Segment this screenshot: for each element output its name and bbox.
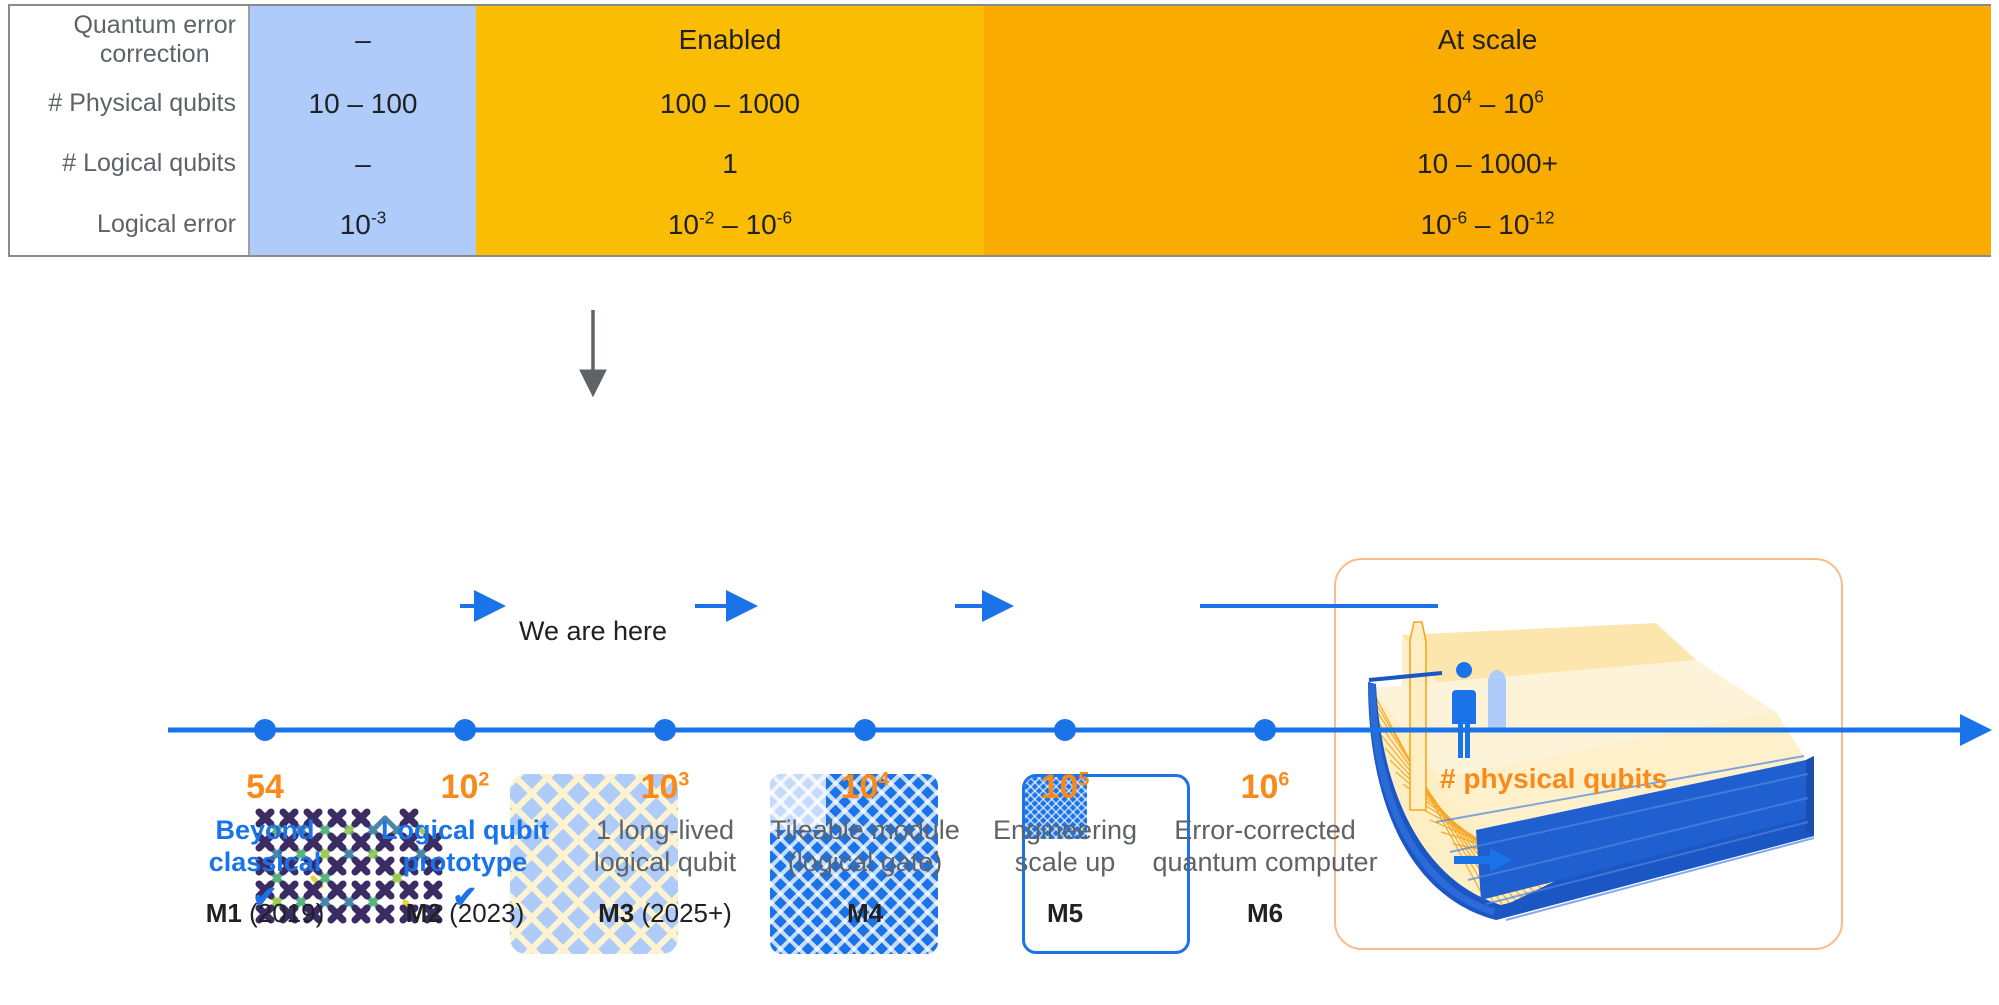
milestone-year-m3: (2025+)	[642, 898, 732, 928]
milestone-footer-m6: M6	[1145, 898, 1385, 929]
milestone-id-m1: M1	[206, 898, 242, 928]
axis-arrow-head	[1960, 714, 1992, 746]
axis-tick-dots	[254, 719, 1276, 741]
axis-label-physical-qubits: # physical qubits	[1440, 763, 1667, 795]
milestone-id-m2: M2	[406, 898, 442, 928]
milestone-id-m3: M3	[598, 898, 634, 928]
table-cell-err-nisq: 10-3	[250, 194, 476, 255]
table-row-label: Quantum errorcorrection	[10, 6, 250, 74]
table-row-label: Logical error	[10, 194, 250, 255]
table-cell-qec-nisq: –	[250, 6, 476, 74]
milestone-id-m5: M5	[1047, 898, 1083, 928]
milestone-year-m2: (2023)	[449, 898, 524, 928]
milestone-column-m6[interactable]: 106 Error-corrected quantum computer	[1145, 768, 1385, 879]
table-cell-phys-atscale: 104 – 106	[984, 74, 1991, 134]
roadmap-table: Quantum errorcorrection – Enabled At sca…	[8, 4, 1991, 257]
table-cell-log-nisq: –	[250, 134, 476, 194]
milestone-year-m1: (2019)	[249, 898, 324, 928]
milestone-qubits-m6: 106	[1145, 768, 1385, 807]
table-cell-log-enabled: 1	[476, 134, 984, 194]
we-are-here-label: We are here	[498, 616, 688, 647]
table-cell-err-enabled: 10-2 – 10-6	[476, 194, 984, 255]
table-cell-phys-enabled: 100 – 1000	[476, 74, 984, 134]
table-cell-phys-nisq: 10 – 100	[250, 74, 476, 134]
table-cell-log-atscale: 10 – 1000+	[984, 134, 1991, 194]
cryostat-icon	[1336, 560, 1841, 948]
table-cell-err-atscale: 10-6 – 10-12	[984, 194, 1991, 255]
milestone-id-m6: M6	[1247, 898, 1283, 928]
label-text-qec: Quantum errorcorrection	[73, 11, 236, 70]
table-cell-qec-enabled: Enabled	[476, 6, 984, 74]
table-row-label: # Physical qubits	[10, 74, 250, 134]
table-cell-qec-atscale: At scale	[984, 6, 1991, 74]
milestone-title-m6: Error-corrected quantum computer	[1145, 815, 1385, 879]
milestone-id-m4: M4	[847, 898, 883, 928]
roadmap-diagram: We are here	[0, 258, 1999, 1005]
table-row-label: # Logical qubits	[10, 134, 250, 194]
cryostat-illustration-card	[1334, 558, 1843, 950]
